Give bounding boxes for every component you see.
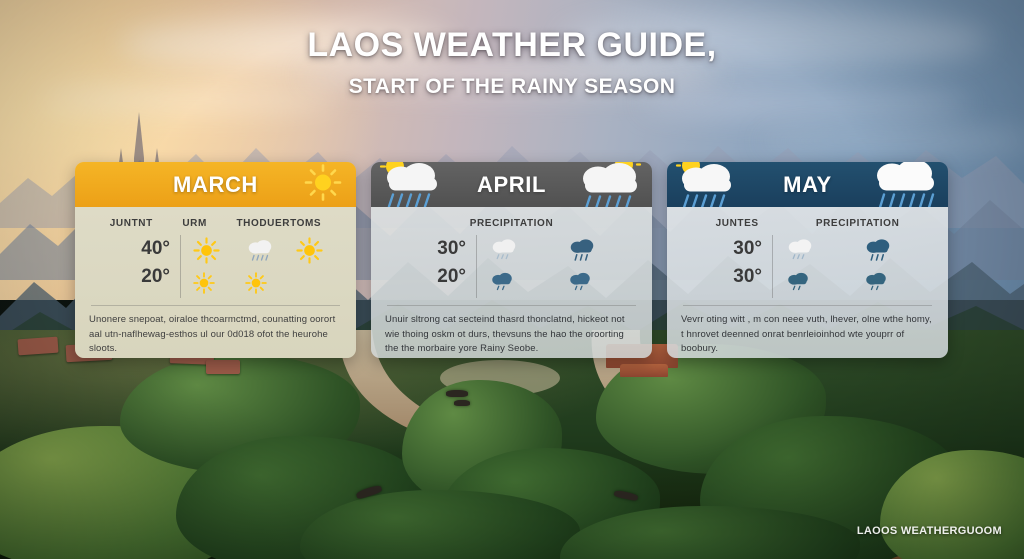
month-cards-row: MARCH xyxy=(0,162,1024,362)
card-description: Vevrr oting witt , m con neee vuth, lhev… xyxy=(681,313,934,357)
metric-labels-april: PRECIPITATION xyxy=(385,218,638,229)
metric-label: JUNTNT xyxy=(110,218,153,229)
riverside-temple-roof xyxy=(620,364,668,377)
temperature-high: 30° xyxy=(385,235,466,263)
temperature-high: 40° xyxy=(89,235,170,263)
headline-primary: LAOS WEATHER GUIDE, xyxy=(0,28,1024,64)
card-header-march: MARCH xyxy=(75,162,356,207)
month-label: MAY xyxy=(783,172,832,198)
card-body-march: JUNTNT URM THODUERTOMS 40° 20° xyxy=(75,207,356,358)
metrics-april: 30° 20° xyxy=(385,235,638,298)
metric-label: PRECIPITATION xyxy=(470,218,554,229)
heavy-rain-cloud-icon xyxy=(567,267,639,298)
metric-label: THODUERTOMS xyxy=(236,218,321,229)
temperature-column: 40° 20° xyxy=(89,235,181,298)
weather-card-may[interactable]: MAY JUNTES PRECIPITATION 30° xyxy=(667,162,948,358)
village-rooftop xyxy=(206,360,240,374)
sun-icon xyxy=(193,235,239,266)
light-rain-cloud-icon xyxy=(785,235,857,266)
metric-label: JUNTES xyxy=(716,218,759,229)
empty-cell xyxy=(296,267,342,298)
month-label: MARCH xyxy=(173,172,258,198)
metric-label: URM xyxy=(182,218,207,229)
page-title: LAOS WEATHER GUIDE, START OF THE RAINY S… xyxy=(0,28,1024,99)
sun-icon xyxy=(245,267,291,298)
card-header-may: MAY xyxy=(667,162,948,207)
river-boat xyxy=(454,400,470,406)
sun-icon xyxy=(193,267,239,298)
heavy-rain-cloud-icon xyxy=(863,235,935,266)
divider xyxy=(387,305,636,306)
light-rain-cloud-icon xyxy=(489,235,561,266)
heavy-rain-cloud-icon xyxy=(489,267,561,298)
river-boat xyxy=(446,390,468,397)
temperature-column: 30° 30° xyxy=(681,235,773,298)
sun-icon xyxy=(296,235,342,266)
card-body-may: JUNTES PRECIPITATION 30° 30° xyxy=(667,207,948,358)
metrics-march: 40° 20° xyxy=(89,235,342,298)
card-description: Unuir sltrong cat secteind thasrd thoncl… xyxy=(385,313,638,357)
weather-icon-grid-may xyxy=(773,235,934,298)
temperature-low: 20° xyxy=(89,263,170,291)
temperature-column: 30° 20° xyxy=(385,235,477,298)
card-body-april: PRECIPITATION 30° 20° xyxy=(371,207,652,358)
metric-labels-march: JUNTNT URM THODUERTOMS xyxy=(89,218,342,229)
metric-labels-may: JUNTES PRECIPITATION xyxy=(681,218,934,229)
card-header-april: APRIL xyxy=(371,162,652,207)
temperature-high: 30° xyxy=(681,235,762,263)
metrics-may: 30° 30° xyxy=(681,235,934,298)
temperature-low: 30° xyxy=(681,263,762,291)
headline-subtitle: START OF THE RAINY SEASON xyxy=(0,75,1024,99)
heavy-rain-cloud-icon xyxy=(863,267,935,298)
heavy-rain-cloud-icon xyxy=(567,235,639,266)
weather-icon-grid-april xyxy=(477,235,638,298)
temperature-low: 20° xyxy=(385,263,466,291)
sun-icon xyxy=(304,163,342,206)
rain-cloud-icon xyxy=(245,235,291,266)
watermark: LAOOS WEATHERGUOOM xyxy=(857,525,1002,537)
weather-card-march[interactable]: MARCH xyxy=(75,162,356,358)
weather-card-april[interactable]: APRIL PRECIP xyxy=(371,162,652,358)
heavy-rain-cloud-icon xyxy=(785,267,857,298)
month-label: APRIL xyxy=(477,172,546,198)
metric-label: PRECIPITATION xyxy=(816,218,900,229)
divider xyxy=(91,305,340,306)
card-description: Unonere snepoat, oiraloe thcoarmctmd, co… xyxy=(89,313,342,357)
weather-icon-grid-march xyxy=(181,235,342,298)
divider xyxy=(683,305,932,306)
